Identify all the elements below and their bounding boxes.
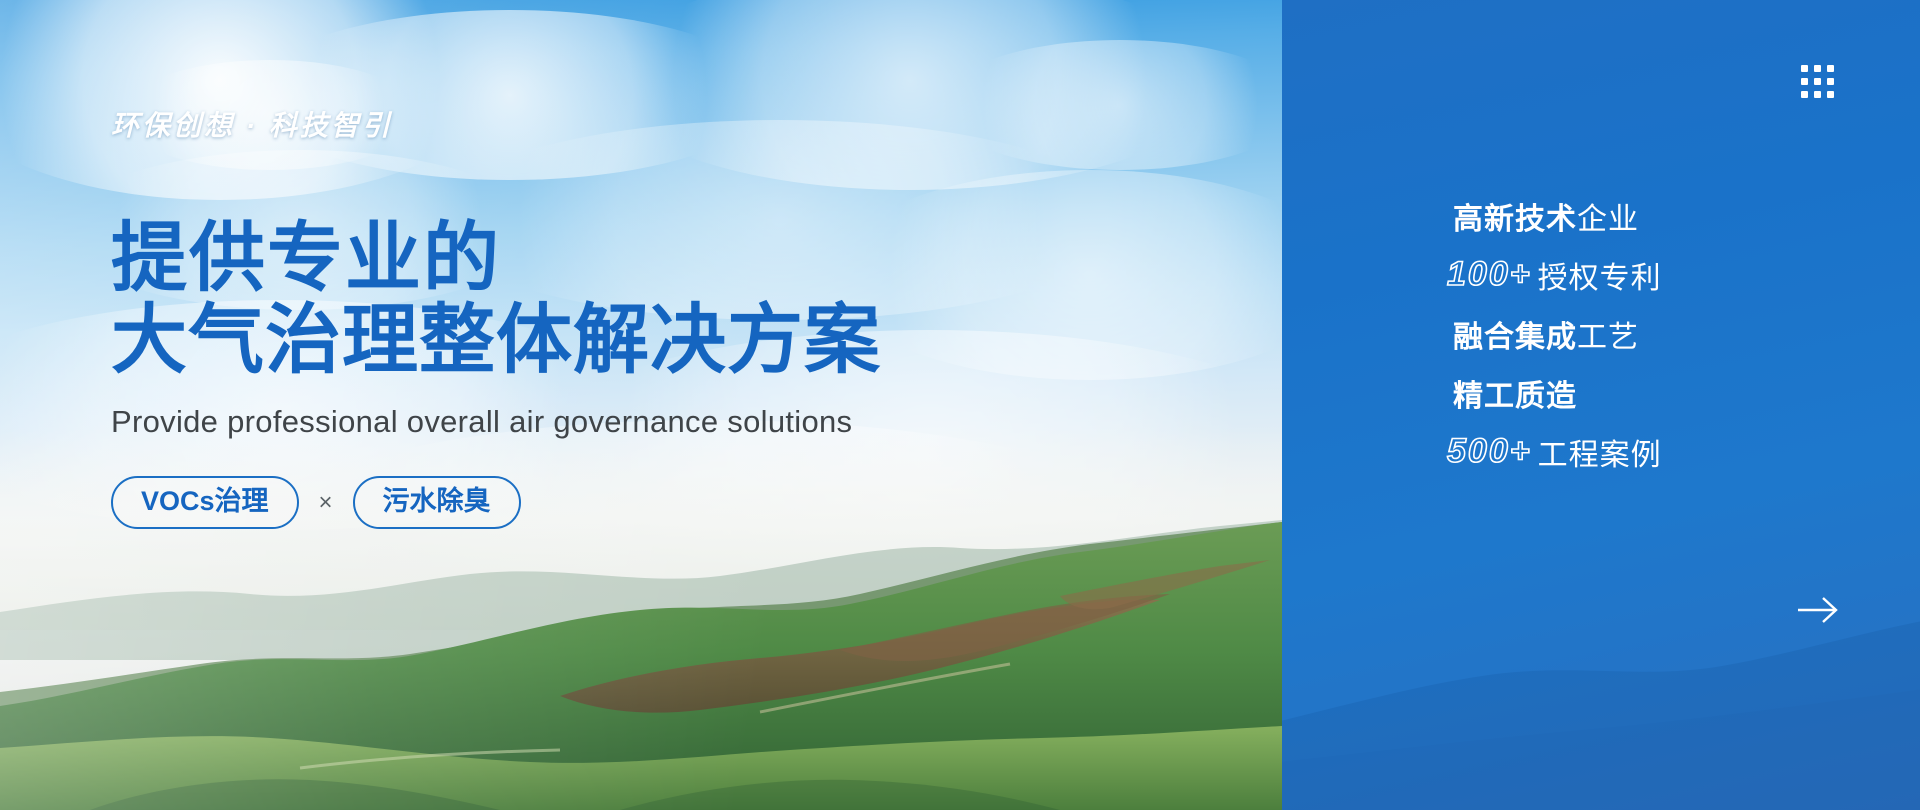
credential-light: 授权专利 xyxy=(1538,253,1662,297)
credential-item: 高新技术 企业 xyxy=(1447,186,1662,245)
credential-light: 工程案例 xyxy=(1538,430,1662,474)
credential-number: 100+ xyxy=(1447,255,1532,294)
hero-copy: 环保创想 · 科技智引 提供专业的 大气治理整体解决方案 Provide pro… xyxy=(111,104,1111,529)
credentials-list: 高新技术 企业 100+ 授权专利 融合集成 工艺 精工质造 500+ xyxy=(1447,186,1662,481)
hero-headline: 提供专业的 大气治理整体解决方案 xyxy=(111,218,1111,382)
credential-strong: 融合集成 xyxy=(1453,312,1577,356)
credential-strong: 精工质造 xyxy=(1453,371,1577,415)
credential-strong: 高新技术 xyxy=(1453,194,1577,238)
grid-dot xyxy=(1827,91,1834,98)
mountain-ridge-near xyxy=(0,500,1282,810)
arrow-right-icon[interactable] xyxy=(1796,594,1840,626)
hero-tagline: 环保创想 · 科技智引 xyxy=(111,104,1111,144)
grid-dot xyxy=(1827,78,1834,85)
credential-number: 500+ xyxy=(1447,432,1532,471)
headline-line-1: 提供专业的 xyxy=(111,218,1111,300)
grid-dot xyxy=(1814,65,1821,72)
headline-line-2: 大气治理整体解决方案 xyxy=(111,300,1111,382)
grid-dot xyxy=(1801,78,1808,85)
tag-pill-vocs[interactable]: VOCs治理 xyxy=(111,476,299,529)
credential-item: 500+ 工程案例 xyxy=(1447,422,1662,481)
grid-dot xyxy=(1814,78,1821,85)
hero-tag-pills: VOCs治理 × 污水除臭 xyxy=(111,476,1111,529)
credential-item: 100+ 授权专利 xyxy=(1447,245,1662,304)
tag-pill-odor[interactable]: 污水除臭 xyxy=(353,476,521,529)
grid-dot xyxy=(1814,91,1821,98)
credential-item: 精工质造 xyxy=(1447,363,1662,422)
credentials-panel: 高新技术 企业 100+ 授权专利 融合集成 工艺 精工质造 500+ xyxy=(1282,0,1920,810)
hero-subheadline: Provide professional overall air governa… xyxy=(111,404,1111,440)
grid-dot xyxy=(1801,65,1808,72)
hero-banner: 环保创想 · 科技智引 提供专业的 大气治理整体解决方案 Provide pro… xyxy=(0,0,1920,810)
credential-light: 企业 xyxy=(1577,194,1639,238)
credential-light: 工艺 xyxy=(1577,312,1639,356)
pill-separator: × xyxy=(317,489,335,517)
grid-menu-icon[interactable] xyxy=(1801,65,1834,98)
grid-dot xyxy=(1801,91,1808,98)
credential-item: 融合集成 工艺 xyxy=(1447,304,1662,363)
grid-dot xyxy=(1827,65,1834,72)
